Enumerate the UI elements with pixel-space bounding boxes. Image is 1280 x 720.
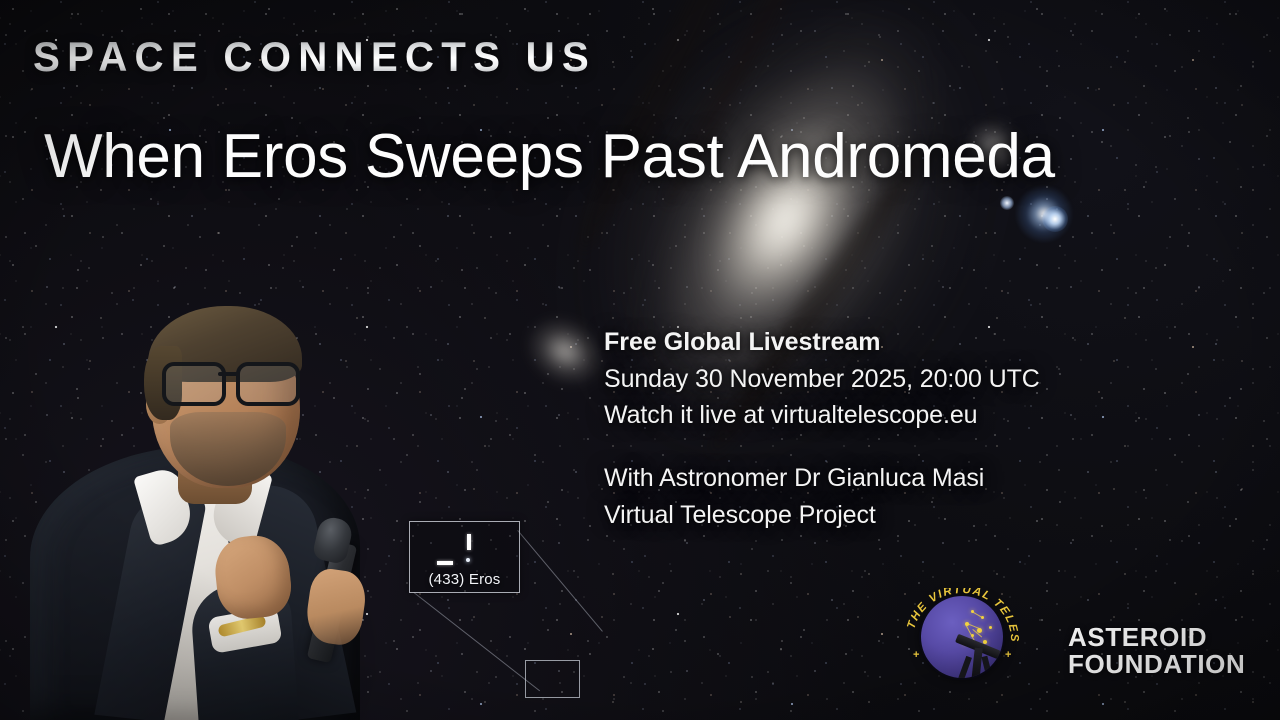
eros-magnified-inset: (433) Eros (409, 521, 520, 593)
vt-ring-text-path: THE VIRTUAL TELESCOPE (905, 588, 1019, 643)
watch-url-line: Watch it live at virtualtelescope.eu (604, 397, 1040, 434)
event-datetime: Sunday 30 November 2025, 20:00 UTC (604, 361, 1040, 398)
vt-plus-icon: + (1005, 650, 1011, 661)
asteroid-foundation-logo[interactable]: ASTEROID FOUNDATION (1068, 624, 1245, 678)
blue-star-small (1000, 196, 1014, 210)
eros-asteroid-point (466, 558, 470, 562)
vt-logo-ring-text: THE VIRTUAL TELESCOPE (905, 588, 1019, 688)
poster-canvas: SPACE CONNECTS US When Eros Sweeps Past … (0, 0, 1280, 720)
eyebrow-title: SPACE CONNECTS US (33, 36, 596, 78)
event-details: Free Global Livestream Sunday 30 Novembe… (604, 325, 1040, 534)
virtual-telescope-logo[interactable]: THE VIRTUAL TELESCOPE + + (905, 588, 1019, 688)
livestream-heading: Free Global Livestream (604, 325, 1040, 361)
svg-text:THE VIRTUAL TELESCOPE: THE VIRTUAL TELESCOPE (905, 588, 1019, 643)
eros-marker-tick-horizontal (437, 561, 453, 565)
blue-star-core (1042, 206, 1068, 232)
asteroid-foundation-line2: FOUNDATION (1068, 651, 1245, 678)
organisation-line: Virtual Telescope Project (604, 497, 1040, 534)
eros-source-region-box (525, 660, 580, 698)
vt-plus-icon: + (913, 650, 919, 661)
eros-inset-label: (433) Eros (410, 571, 519, 588)
eros-marker-tick-vertical (467, 534, 471, 550)
page-title: When Eros Sweeps Past Andromeda (44, 126, 1055, 188)
asteroid-foundation-line1: ASTEROID (1068, 624, 1245, 651)
presenter-line: With Astronomer Dr Gianluca Masi (604, 460, 1040, 497)
